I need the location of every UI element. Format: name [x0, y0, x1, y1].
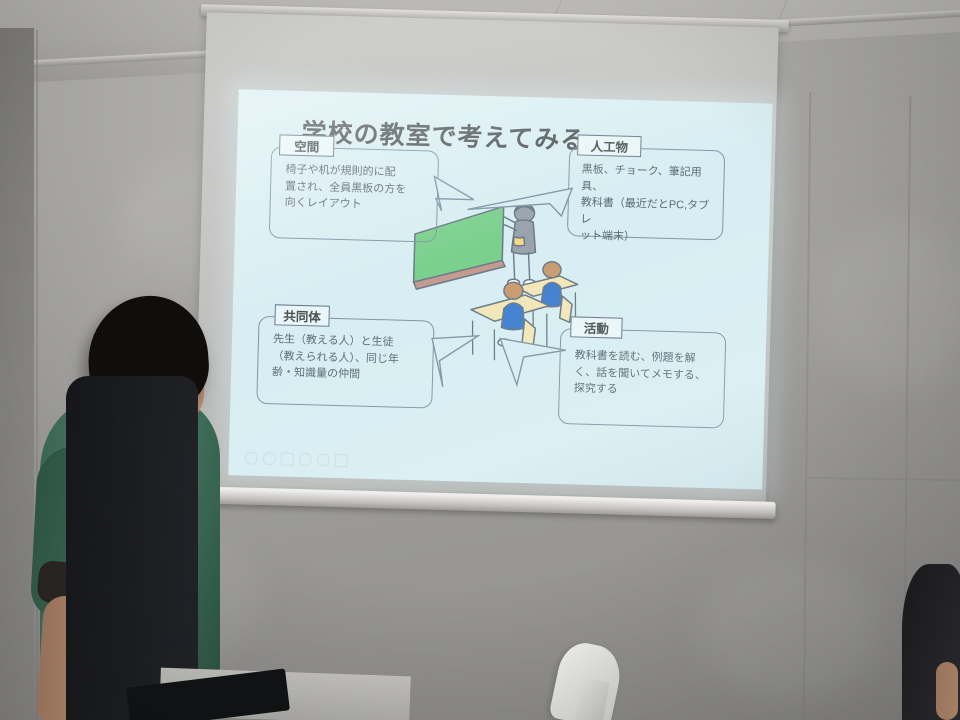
callout-bubble-activity: 教科書を読む、例題を解 く、話を聞いてメモする、 探究する [558, 328, 727, 428]
projected-slide: 学校の教室で考えてみる [228, 89, 772, 489]
wall-blotch [820, 220, 960, 390]
screen-surface: 学校の教室で考えてみる [194, 12, 779, 505]
circle-icon [317, 453, 330, 466]
projector-screen: 学校の教室で考えてみる [179, 0, 793, 536]
seated-attendee-arm [936, 662, 958, 720]
callout-label-artifacts: 人工物 [577, 134, 642, 157]
circle-icon [245, 451, 258, 464]
screenshot-root: 学校の教室で考えてみる [0, 0, 960, 720]
slide-watermark-icons [245, 450, 383, 470]
callout-body-community: 先生（教える人）と生徒 （教えられる人）、同じ年 齢・知識量の仲間 [272, 331, 427, 385]
callout-bubble-community: 先生（教える人）と生徒 （教えられる人）、同じ年 齢・知識量の仲間 [256, 316, 434, 409]
callout-body-artifacts: 黒板、チョーク、筆記用具、 教科書（最近だとPC,タブレ ット端末） [580, 162, 720, 248]
circle-icon [263, 452, 276, 465]
callout-bubble-artifacts: 黒板、チョーク、筆記用具、 教科書（最近だとPC,タブレ ット端末） [567, 146, 725, 240]
callout-body-space: 椅子や机が規則的に配 置され、全員黒板の方を 向くレイアウト [284, 162, 431, 215]
callout-label-community: 共同体 [274, 304, 330, 326]
callout-body-activity: 教科書を読む、例題を解 く、話を聞いてメモする、 探究する [574, 347, 721, 400]
square-icon [335, 453, 348, 466]
wall-blotch [700, 560, 880, 700]
square-icon [281, 452, 294, 465]
callout-bubble-space: 椅子や机が規則的に配 置され、全員黒板の方を 向くレイアウト [269, 146, 439, 243]
callout-label-space: 空間 [279, 134, 335, 156]
wall-panel-seam [806, 477, 960, 481]
callout-label-activity: 活動 [570, 316, 623, 338]
circle-icon [299, 453, 312, 466]
